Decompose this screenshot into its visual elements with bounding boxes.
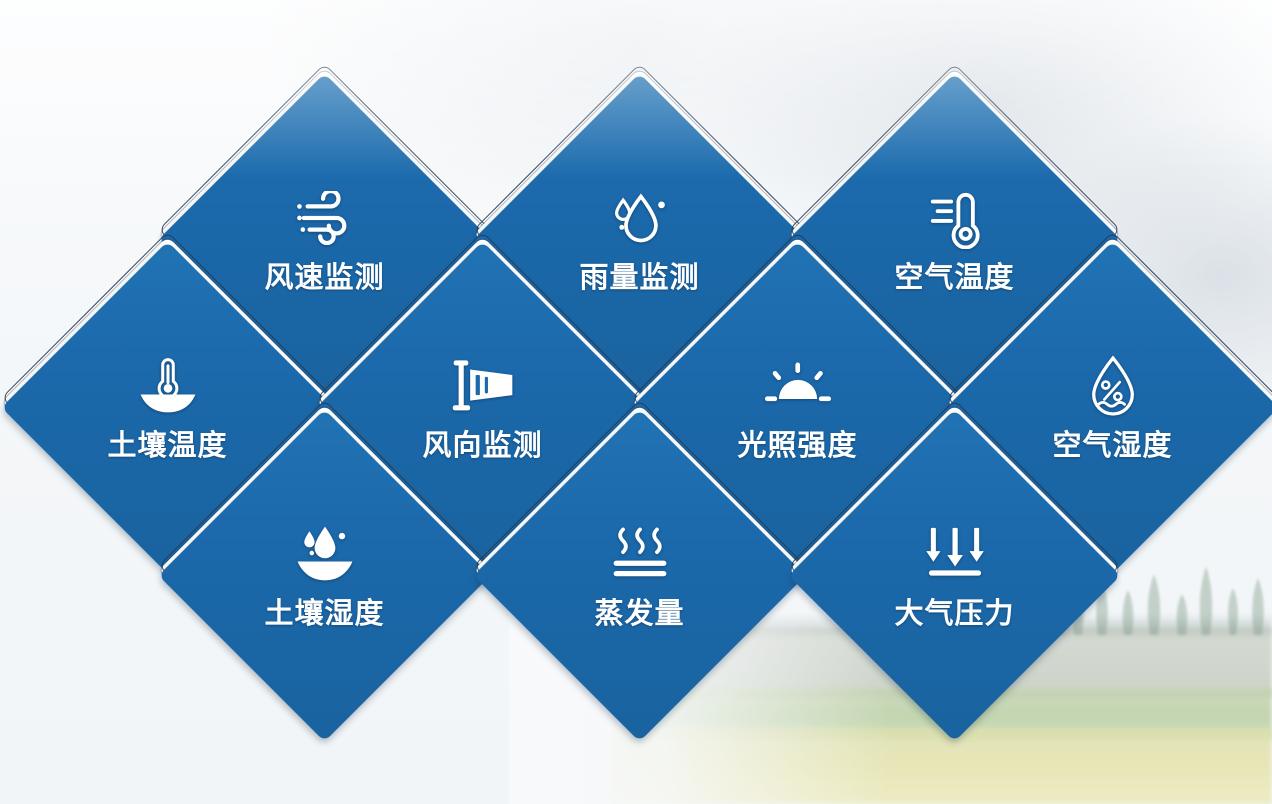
tile-atmospheric-pressure[interactable]: 大气压力 <box>837 458 1072 693</box>
tile-face <box>158 409 490 741</box>
tile-evaporation[interactable]: 蒸发量 <box>522 458 757 693</box>
tile-face <box>473 409 805 741</box>
diamond-grid: 风速监测 雨量监测 <box>0 0 1272 804</box>
tile-soil-moisture[interactable]: 土壤湿度 <box>207 458 442 693</box>
poster-canvas: 风速监测 雨量监测 <box>0 0 1272 804</box>
tile-face <box>788 409 1120 741</box>
